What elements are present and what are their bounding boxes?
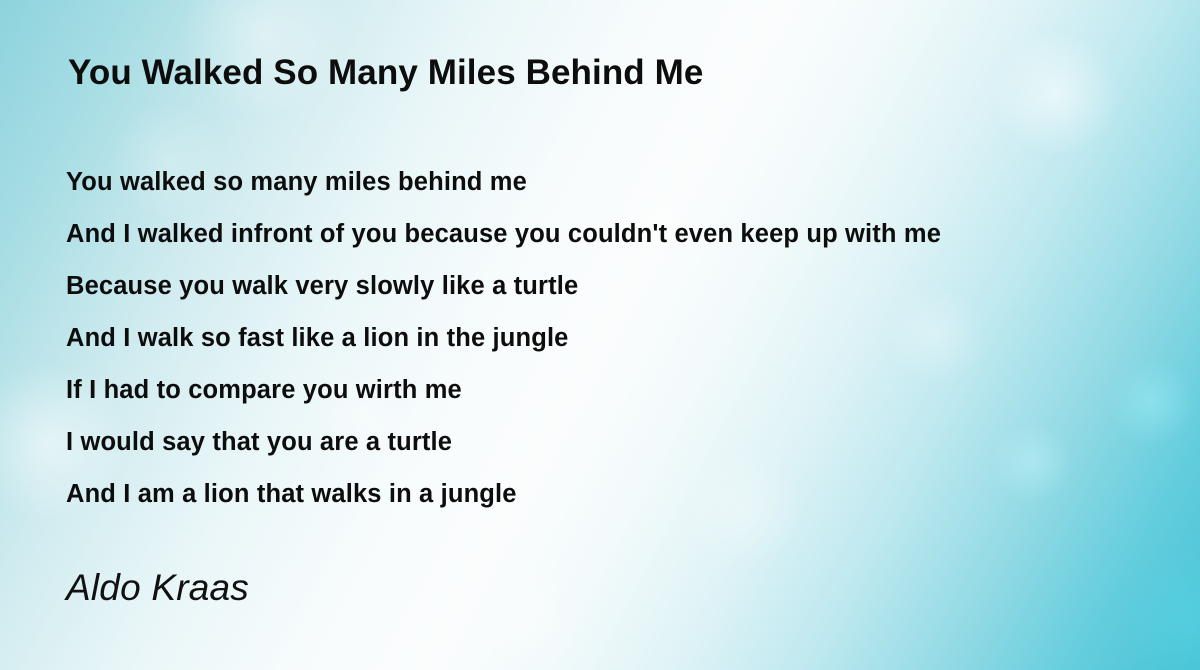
poem-line: If I had to compare you wirth me bbox=[66, 364, 1186, 416]
poem-title: You Walked So Many Miles Behind Me bbox=[68, 53, 703, 93]
poem-line: Because you walk very slowly like a turt… bbox=[66, 260, 1186, 312]
poem-author: Aldo Kraas bbox=[66, 567, 249, 609]
poem-line: I would say that you are a turtle bbox=[66, 416, 1186, 468]
poem-line: And I walked infront of you because you … bbox=[66, 208, 1186, 260]
poem-body: You walked so many miles behind me And I… bbox=[66, 156, 1186, 520]
poem-line: And I am a lion that walks in a jungle bbox=[66, 468, 1186, 520]
poem-line: And I walk so fast like a lion in the ju… bbox=[66, 312, 1186, 364]
poem-content: You Walked So Many Miles Behind Me You w… bbox=[0, 0, 1200, 670]
poem-line: You walked so many miles behind me bbox=[66, 156, 1186, 208]
poem-image-card: You Walked So Many Miles Behind Me You w… bbox=[0, 0, 1200, 670]
